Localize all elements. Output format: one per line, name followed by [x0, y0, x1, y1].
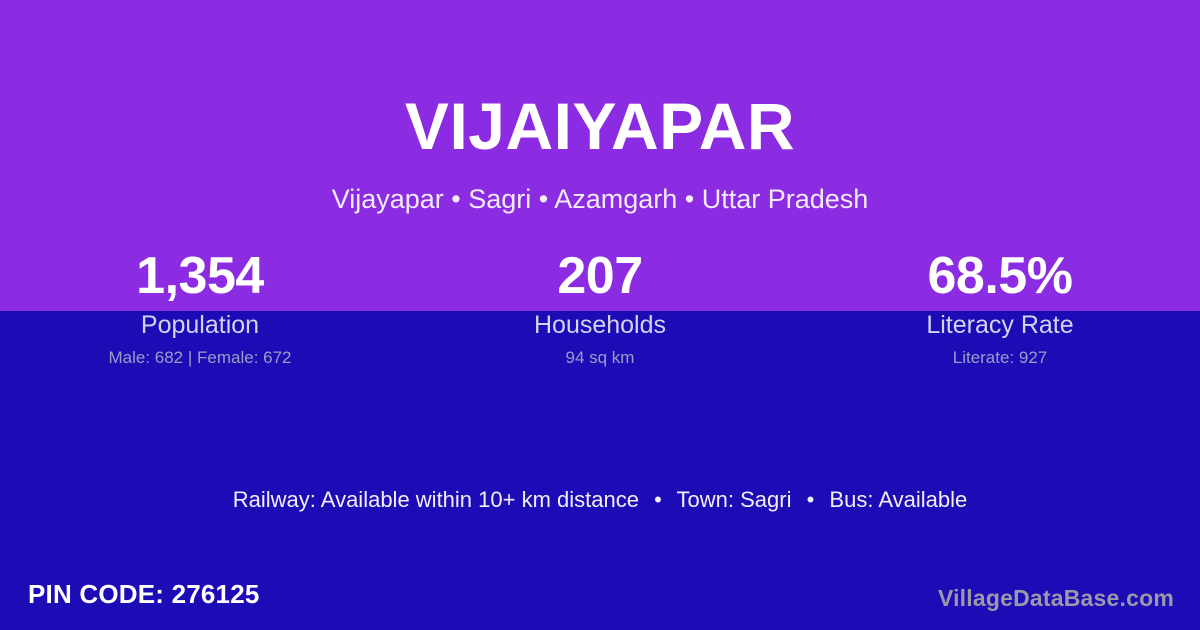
stat-sub-literacy-rate: Literate: 927	[800, 347, 1200, 368]
village-info-card: VIJAIYAPAR Vijayapar • Sagri • Azamgarh …	[0, 0, 1200, 630]
stat-households: 207 Households 94 sq km	[400, 245, 800, 368]
amenity-railway: Railway: Available within 10+ km distanc…	[233, 487, 639, 512]
breadcrumb: Vijayapar • Sagri • Azamgarh • Uttar Pra…	[0, 182, 1200, 216]
stats-row: 1,354 Population Male: 682 | Female: 672…	[0, 245, 1200, 368]
site-brand-watermark: VillageDataBase.com	[938, 584, 1174, 612]
stat-label-literacy-rate: Literacy Rate	[800, 310, 1200, 340]
stat-sub-population: Male: 682 | Female: 672	[0, 347, 400, 368]
amenity-bus: Bus: Available	[829, 487, 967, 512]
card-footer: PIN CODE: 276125 VillageDataBase.com	[0, 572, 1200, 616]
stat-value-households: 207	[400, 245, 800, 307]
bullet-separator-icon: •	[798, 487, 824, 512]
page-title: VIJAIYAPAR	[0, 86, 1200, 166]
amenities-line: Railway: Available within 10+ km distanc…	[0, 485, 1200, 515]
stat-value-literacy-rate: 68.5%	[800, 245, 1200, 307]
stat-sub-households: 94 sq km	[400, 347, 800, 368]
amenity-town: Town: Sagri	[677, 487, 792, 512]
stat-literacy-rate: 68.5% Literacy Rate Literate: 927	[800, 245, 1200, 368]
stat-label-households: Households	[400, 310, 800, 340]
pin-code-text: PIN CODE: 276125	[28, 578, 260, 610]
stat-value-population: 1,354	[0, 245, 400, 307]
bullet-separator-icon: •	[645, 487, 671, 512]
stat-population: 1,354 Population Male: 682 | Female: 672	[0, 245, 400, 368]
card-content: VIJAIYAPAR Vijayapar • Sagri • Azamgarh …	[0, 0, 1200, 630]
stat-label-population: Population	[0, 310, 400, 340]
